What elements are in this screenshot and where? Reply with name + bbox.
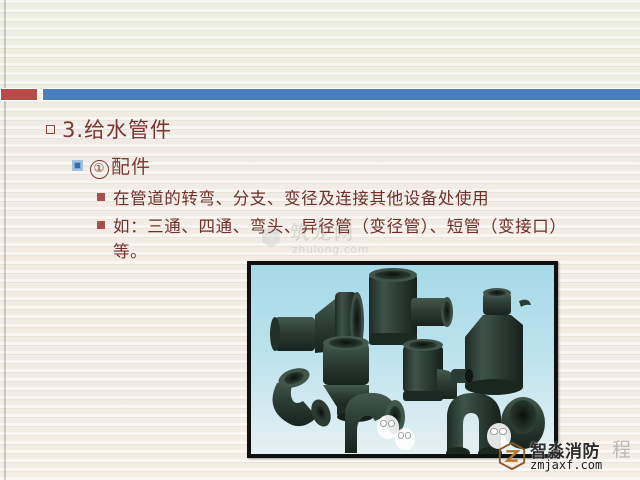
outline-level3-item: 如：三通、四通、弯头、异径管（变径管）、短管（变接口）等。 xyxy=(97,214,593,264)
small-red-square-bullet-icon xyxy=(97,193,105,201)
hollow-square-bullet-icon xyxy=(46,125,55,134)
circled-number-marker: ① xyxy=(90,160,109,179)
small-red-square-bullet-icon xyxy=(97,221,105,229)
site-watermark-url: zmjaxf.com xyxy=(530,458,602,472)
outline-level2-row: ①配件 xyxy=(90,152,151,179)
outline-level3-item: 在管道的转弯、分支、变径及连接其他设备处使用 xyxy=(97,186,489,211)
header-blue-bar xyxy=(42,88,640,101)
photo-content xyxy=(251,265,554,454)
outline-level2: ①配件 xyxy=(72,152,151,179)
outline-level1-label: 3.给水管件 xyxy=(62,114,172,144)
outline-level3-label: 在管道的转弯、分支、变径及连接其他设备处使用 xyxy=(113,186,489,211)
site-watermark: 智淼消防 zmjaxf.com 程 xyxy=(497,435,640,477)
site-watermark-ghost-char: 程 xyxy=(612,435,631,462)
outline-level1: 3.给水管件 xyxy=(46,114,172,144)
blue-square-bullet-icon xyxy=(72,160,83,171)
header-red-bar xyxy=(0,88,38,101)
left-margin-rule xyxy=(4,0,6,480)
zmjaxf-logo-icon xyxy=(497,441,527,471)
pipe-fittings-photo xyxy=(247,261,558,458)
slide-canvas: 3.给水管件 ①配件 在管道的转弯、分支、变径及连接其他设备处使用 如：三通、四… xyxy=(0,0,640,480)
outline-level3-label: 如：三通、四通、弯头、异径管（变径管）、短管（变接口）等。 xyxy=(113,214,593,264)
outline-level2-label: 配件 xyxy=(111,156,151,178)
pipe-fittings-illustration xyxy=(251,265,554,454)
